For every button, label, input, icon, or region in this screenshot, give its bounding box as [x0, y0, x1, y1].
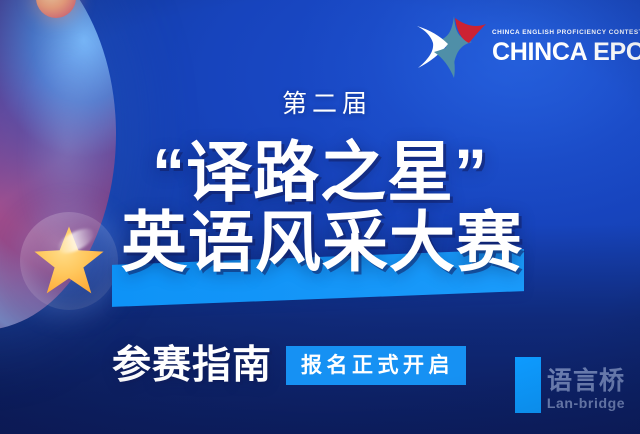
watermark-chinese: 语言桥 — [536, 368, 636, 394]
registration-badge-label: 报名正式开启 — [301, 355, 454, 376]
chinca-epc-logo: CHINCA ENGLISH PROFICIENCY CONTEST CHINC… — [414, 12, 632, 88]
logo-wordmark: CHINCA EPC — [492, 40, 634, 65]
badge-edge-tab — [515, 357, 541, 413]
chinca-star-icon — [414, 12, 488, 80]
edition-label: 第二届 — [282, 90, 372, 118]
watermark-english: Lan-bridge — [536, 396, 636, 411]
main-title-block: “译路之星” 英语风采大赛 — [0, 135, 640, 325]
logo-tagline: CHINCA ENGLISH PROFICIENCY CONTEST — [492, 30, 634, 36]
lan-bridge-watermark: 语言桥 Lan-bridge — [536, 368, 636, 412]
main-title-line-2: 英语风采大赛 — [4, 209, 640, 275]
registration-badge: 报名正式开启 — [286, 346, 466, 385]
poster-canvas: CHINCA ENGLISH PROFICIENCY CONTEST CHINC… — [0, 0, 640, 434]
bottom-caption-row: 参赛指南 报名正式开启 — [112, 346, 466, 385]
guide-label: 参赛指南 — [112, 346, 272, 385]
edition-line: 第二届 — [0, 92, 640, 117]
main-title-line-1: “译路之星” — [0, 139, 640, 205]
logo-text-group: CHINCA ENGLISH PROFICIENCY CONTEST CHINC… — [492, 30, 634, 65]
